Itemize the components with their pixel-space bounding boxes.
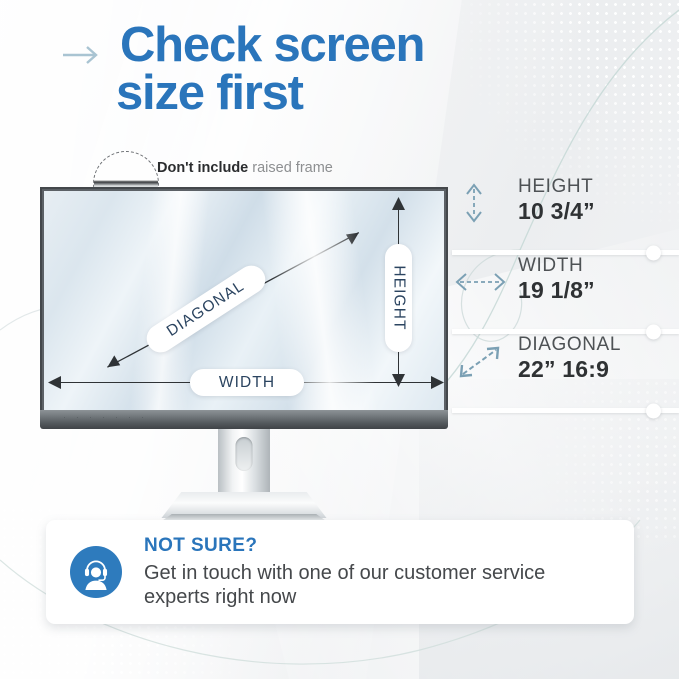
measurement-row-width: WIDTH 19 1/8”	[452, 255, 679, 329]
height-arrow-down-icon	[392, 373, 405, 387]
width-arrow-left-icon	[48, 376, 62, 389]
measurement-panel: HEIGHT 10 3/4” WIDTH 19 1/8”	[452, 176, 679, 413]
monitor-stand-neck	[218, 429, 270, 499]
heading-line-1: Check screen	[120, 18, 424, 72]
arrow-right-icon	[62, 44, 104, 66]
measurement-value-height: 10 3/4”	[518, 198, 595, 225]
divider-3	[452, 408, 679, 413]
frame-note-bold: Don't include	[157, 160, 248, 176]
width-label-pill: WIDTH	[190, 369, 304, 396]
monitor-bezel-bottom	[40, 410, 448, 429]
heading-line-2: size first	[116, 70, 618, 118]
width-label-text: WIDTH	[219, 374, 275, 392]
measurement-value-width: 19 1/8”	[518, 277, 595, 304]
measurement-label-diagonal: DIAGONAL	[518, 334, 621, 356]
infographic-canvas: Check screen size first Don't include ra…	[0, 0, 679, 679]
support-title: NOT SURE?	[144, 535, 610, 557]
width-arrow-right-icon	[430, 376, 444, 389]
divider-dot-3	[646, 403, 661, 418]
monitor-illustration: DIAGONAL HEIGHT WIDTH	[40, 187, 448, 429]
vertical-double-arrow-icon	[452, 180, 508, 226]
height-arrow-up-icon	[392, 197, 405, 211]
measurement-label-height: HEIGHT	[518, 176, 595, 198]
measurement-row-diagonal: DIAGONAL 22” 16:9	[452, 334, 679, 408]
measurement-value-diagonal: 22” 16:9	[518, 356, 621, 383]
support-text: Get in touch with one of our customer se…	[144, 561, 610, 610]
frame-note: Don't include raised frame	[157, 160, 333, 176]
horizontal-double-arrow-icon	[452, 259, 508, 305]
height-label-pill: HEIGHT	[385, 244, 412, 352]
page-heading: Check screen size first	[58, 22, 618, 117]
frame-note-rest: raised frame	[248, 160, 333, 176]
measurement-label-width: WIDTH	[518, 255, 595, 277]
support-card[interactable]: NOT SURE? Get in touch with one of our c…	[46, 520, 634, 624]
headset-agent-icon	[70, 546, 122, 598]
measurement-row-height: HEIGHT 10 3/4”	[452, 176, 679, 250]
height-label-text: HEIGHT	[390, 265, 408, 330]
monitor-screen: DIAGONAL HEIGHT WIDTH	[40, 187, 448, 410]
cable-hole-icon	[236, 437, 253, 471]
bezel-control-dots-icon	[58, 416, 148, 419]
diagonal-arrow-icon	[452, 338, 508, 384]
